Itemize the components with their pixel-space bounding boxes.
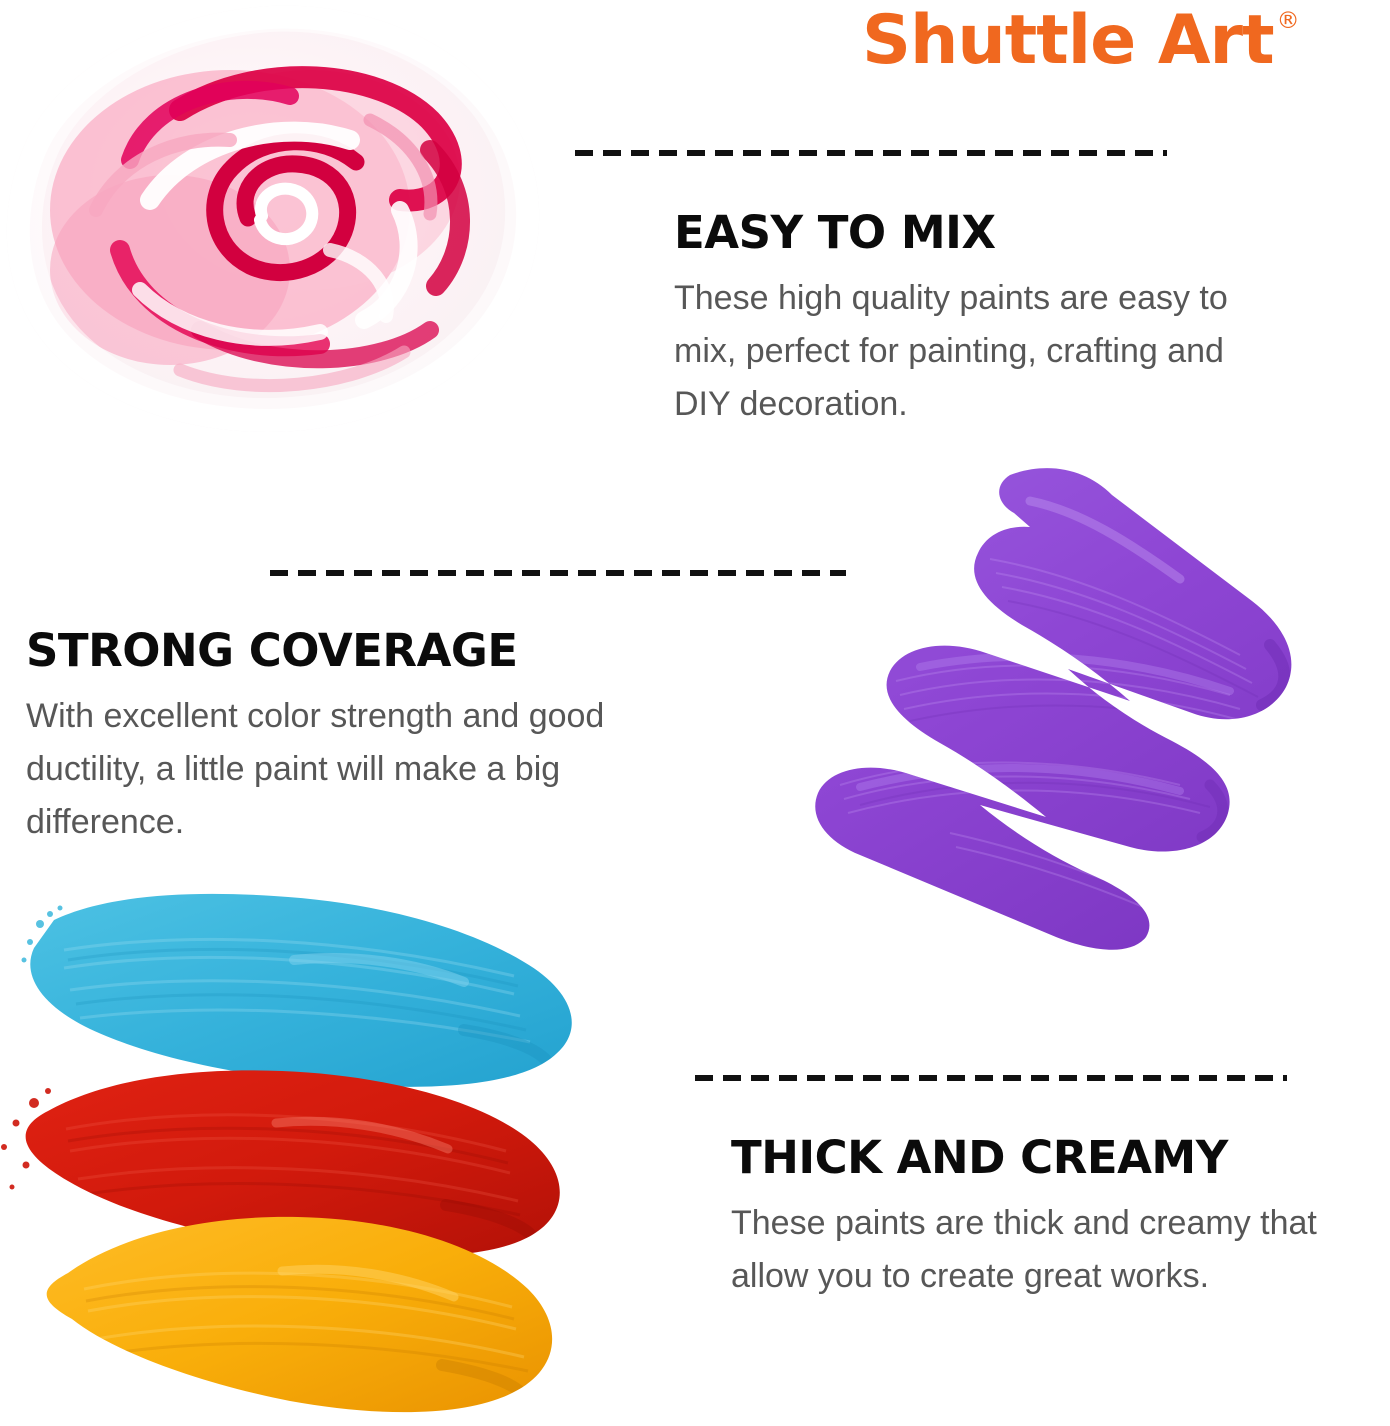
- registered-trademark-icon: ®: [1277, 10, 1300, 33]
- feature-thick-and-creamy: THICK AND CREAMY These paints are thick …: [731, 1133, 1381, 1303]
- feature-heading-strong-coverage: STRONG COVERAGE: [26, 626, 686, 676]
- feature-strong-coverage: STRONG COVERAGE With excellent color str…: [26, 626, 686, 849]
- brand-logo: Shuttle Art ®: [862, 6, 1372, 84]
- pink-swirl-paint-image: [0, 0, 552, 438]
- yellow-paint-stroke-image: [12, 1205, 572, 1425]
- feature-body-thick-and-creamy: These paints are thick and creamy that a…: [731, 1197, 1381, 1303]
- feature-body-strong-coverage: With excellent color strength and good d…: [26, 690, 686, 849]
- feature-body-easy-to-mix: These high quality paints are easy to mi…: [674, 272, 1274, 431]
- purple-paint-stroke-image: [800, 455, 1380, 960]
- divider-strong-coverage: [270, 570, 846, 576]
- feature-heading-thick-and-creamy: THICK AND CREAMY: [731, 1133, 1381, 1183]
- brand-logo-text: Shuttle Art: [862, 6, 1274, 76]
- product-feature-infographic: Shuttle Art ®: [0, 0, 1390, 1426]
- divider-thick-and-creamy: [695, 1075, 1287, 1081]
- feature-easy-to-mix: EASY TO MIX These high quality paints ar…: [674, 208, 1274, 431]
- feature-heading-easy-to-mix: EASY TO MIX: [674, 208, 1274, 258]
- divider-easy-to-mix: [575, 150, 1167, 156]
